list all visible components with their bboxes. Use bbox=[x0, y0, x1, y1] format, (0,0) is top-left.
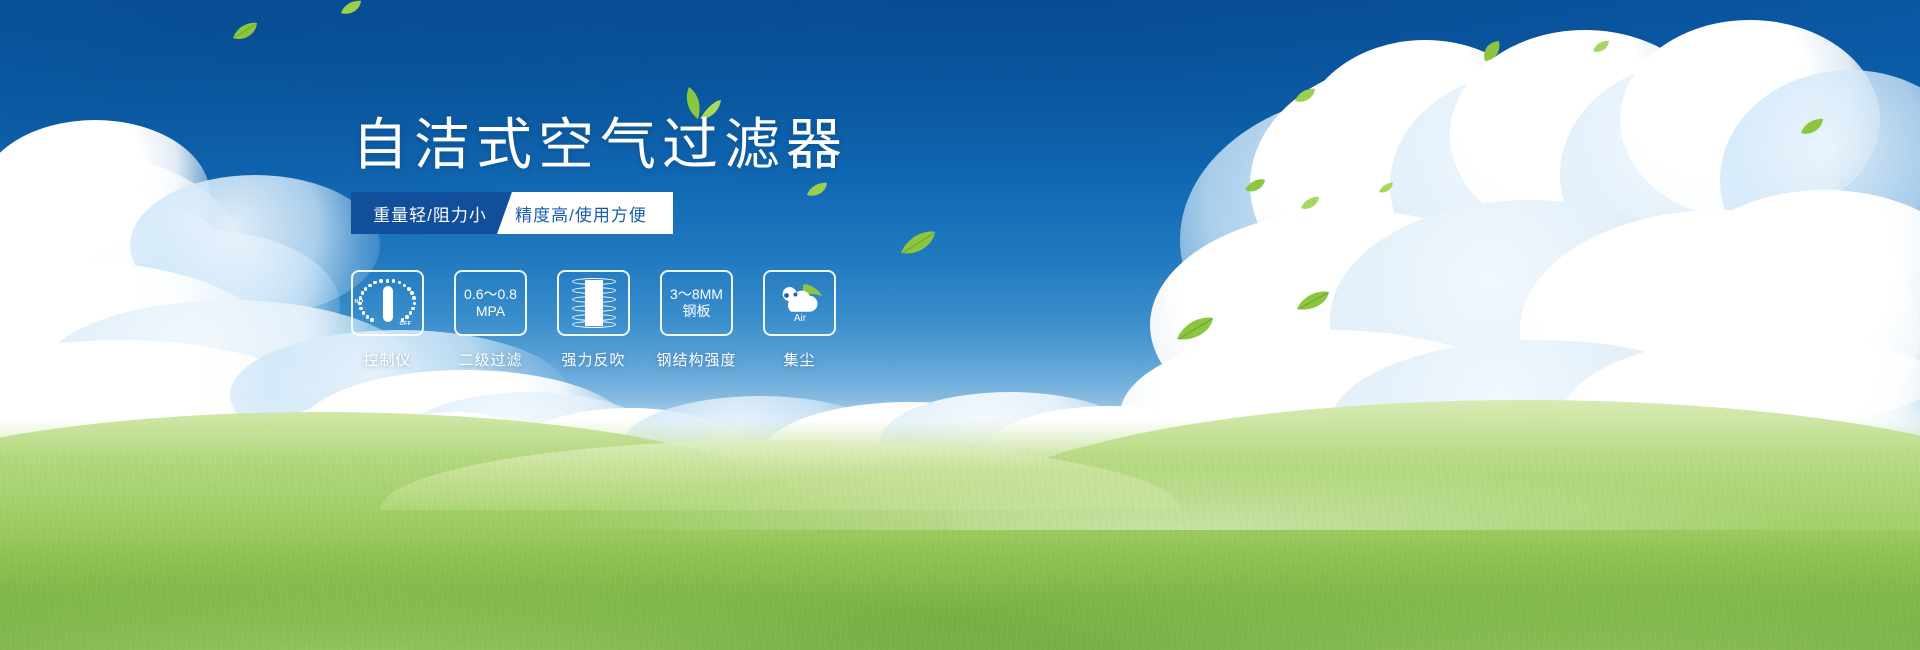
feature-item-steel[interactable]: 3～8MM 钢板 钢结构强度 bbox=[660, 270, 733, 370]
filter-coil-icon bbox=[572, 278, 616, 328]
feature-item-dust[interactable]: Air 集尘 bbox=[763, 270, 836, 370]
feature-icon-box: Air bbox=[763, 270, 836, 336]
page-title: 自洁式空气过滤器 bbox=[352, 117, 848, 173]
feature-icon-box: NO OFF bbox=[351, 270, 424, 336]
feature-caption: 二级过滤 bbox=[458, 349, 522, 370]
hero-banner: 自洁式空气过滤器 重量轻/阻力小 精度高/使用方便 bbox=[0, 0, 1920, 650]
feature-caption: 强力反吹 bbox=[561, 349, 625, 370]
feature-caption: 控制仪 bbox=[363, 349, 411, 370]
feature-caption: 钢结构强度 bbox=[657, 349, 737, 370]
tab-precision-convenience[interactable]: 精度高/使用方便 bbox=[497, 192, 673, 234]
feature-icon-box bbox=[557, 270, 630, 336]
feature-item-blowback[interactable]: 强力反吹 bbox=[557, 270, 630, 370]
gauge-needle bbox=[383, 286, 393, 322]
feature-item-controller[interactable]: NO OFF 控制仪 bbox=[351, 270, 424, 370]
feature-value-line1: 3～8MM bbox=[670, 286, 723, 303]
feature-value-line2: MPA bbox=[476, 303, 505, 320]
tab-weight-resistance[interactable]: 重量轻/阻力小 bbox=[351, 192, 511, 234]
feature-list: NO OFF 控制仪 0.6～0.8 MPA 二级过滤 bbox=[351, 270, 836, 370]
feature-icon-box: 0.6～0.8 MPA bbox=[454, 270, 527, 336]
gauge-label-no: NO bbox=[355, 299, 364, 305]
feature-value-line2: 钢板 bbox=[683, 303, 711, 320]
gauge-icon: NO OFF bbox=[360, 277, 416, 329]
feature-value-line1: 0.6～0.8 bbox=[464, 286, 517, 303]
subtitle-tabs: 重量轻/阻力小 精度高/使用方便 bbox=[351, 192, 673, 234]
feature-icon-box: 3～8MM 钢板 bbox=[660, 270, 733, 336]
feature-item-pressure[interactable]: 0.6～0.8 MPA 二级过滤 bbox=[454, 270, 527, 370]
air-label: Air bbox=[793, 313, 806, 324]
banner-content: 自洁式空气过滤器 重量轻/阻力小 精度高/使用方便 bbox=[0, 0, 1920, 650]
air-cloud-icon: Air bbox=[776, 282, 824, 324]
gauge-label-off: OFF bbox=[400, 321, 412, 327]
feature-caption: 集尘 bbox=[783, 349, 815, 370]
